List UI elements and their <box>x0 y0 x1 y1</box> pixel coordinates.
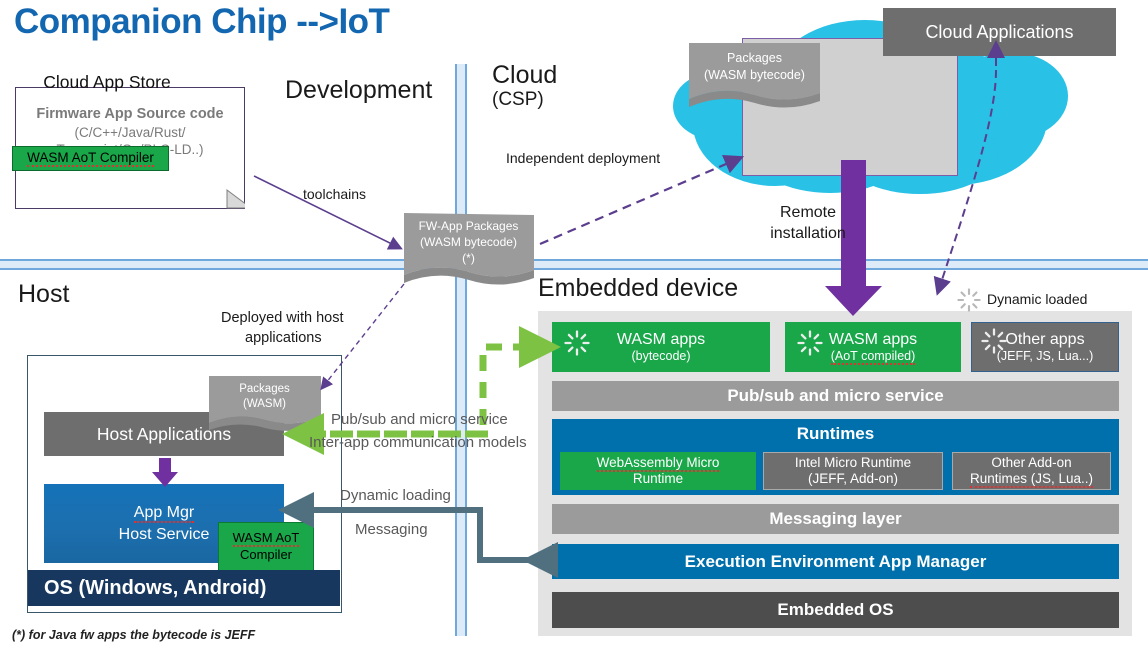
firmware-doc-title: Firmware App Source code <box>15 105 245 124</box>
diagram-canvas: Companion Chip -->IoT Development Cloud … <box>0 0 1148 653</box>
section-label-development: Development <box>285 76 432 105</box>
cloud-applications-label: Cloud Applications <box>925 22 1073 43</box>
legend-dynamic-loaded-label: Dynamic loaded <box>987 291 1087 307</box>
cloud-packages-callout-line2: (WASM bytecode) <box>687 68 822 83</box>
runtime-intel-micro[interactable]: Intel Micro Runtime (JEFF, Add-on) <box>763 452 943 490</box>
fw-packages-line1: FW-App Packages <box>403 219 534 234</box>
dynamic-loaded-icon <box>797 330 823 361</box>
cloud-app-store-title: Cloud App Store <box>0 72 214 93</box>
cloud-label-main: Cloud <box>492 61 557 89</box>
fw-packages-line3: (*) <box>403 251 534 266</box>
embedded-runtimes-band-label-wrap: Runtimes <box>552 421 1119 447</box>
embedded-os-label: Embedded OS <box>777 600 893 620</box>
embedded-app-2-name: Other apps <box>1005 330 1084 349</box>
embedded-app-0-name: WASM apps <box>617 330 705 349</box>
firmware-doc-line2: (C/C++/Java/Rust/ <box>15 124 245 142</box>
label-remote-installation-l1: Remote <box>773 204 843 222</box>
dynamic-loaded-icon <box>981 328 1007 359</box>
runtime-0-line2: Runtime <box>633 471 683 487</box>
runtime-2-line1: Other Add-on <box>991 455 1071 471</box>
host-wasm-aot-line2: Compiler <box>240 547 292 564</box>
cloud-applications-box[interactable]: Cloud Applications <box>883 8 1116 56</box>
embedded-runtimes-band-label: Runtimes <box>797 424 874 444</box>
label-messaging: Messaging <box>355 521 428 538</box>
embedded-messaging-band[interactable]: Messaging layer <box>552 504 1119 534</box>
host-service-label: Host Service <box>119 524 210 546</box>
vertical-divider <box>455 64 467 636</box>
section-label-embedded-device: Embedded device <box>538 274 738 303</box>
embedded-app-0-sub: (bytecode) <box>631 349 690 364</box>
embedded-app-manager-label: Execution Environment App Manager <box>685 552 987 572</box>
embedded-app-manager-band[interactable]: Execution Environment App Manager <box>552 544 1119 579</box>
section-label-cloud: Cloud (CSP) <box>492 61 557 110</box>
host-packages-line2: (WASM) <box>208 397 321 411</box>
cloud-packages-callout-line1: Packages <box>687 51 822 66</box>
runtime-other-addon[interactable]: Other Add-on Runtimes (JS, Lua..) <box>952 452 1111 490</box>
label-deployed-with-host-l2: applications <box>245 330 322 346</box>
runtime-webassembly-micro[interactable]: WebAssembly Micro Runtime <box>560 452 756 490</box>
embedded-pubsub-band-label: Pub/sub and micro service <box>727 386 943 406</box>
page-title: Companion Chip -->IoT <box>14 2 389 42</box>
runtime-1-line2: (JEFF, Add-on) <box>808 471 898 487</box>
embedded-app-1-name: WASM apps <box>829 330 917 349</box>
label-toolchains: toolchains <box>303 186 366 202</box>
host-packages-callout: Packages (WASM) <box>208 375 321 427</box>
host-wasm-aot-compiler[interactable]: WASM AoT Compiler <box>218 522 314 571</box>
embedded-os-band[interactable]: Embedded OS <box>552 592 1119 628</box>
embedded-app-1-sub: (AoT compiled) <box>831 349 916 364</box>
cloud-packages-callout: Packages (WASM bytecode) <box>687 41 822 103</box>
host-os-box[interactable]: OS (Windows, Android) <box>28 570 340 606</box>
label-dynamic-loading: Dynamic loading <box>340 487 451 504</box>
app-mgr-label: App Mgr <box>134 502 194 524</box>
label-independent-deployment: Independent deployment <box>506 150 660 166</box>
runtime-2-line2: Runtimes (JS, Lua..) <box>970 471 1093 487</box>
label-inter-app-models: Inter-app communication models <box>309 434 527 451</box>
runtime-0-line1: WebAssembly Micro <box>597 455 720 472</box>
host-packages-line1: Packages <box>208 382 321 396</box>
app-mgr-line1: App Mgr <box>134 504 194 523</box>
dynamic-loaded-icon <box>957 288 981 317</box>
cloud-wasm-aot-compiler[interactable]: WASM AoT Compiler <box>12 146 169 171</box>
embedded-pubsub-band[interactable]: Pub/sub and micro service <box>552 381 1119 411</box>
label-pubsub-micro-service: Pub/sub and micro service <box>331 411 508 428</box>
cloud-wasm-aot-compiler-label: WASM AoT Compiler <box>27 150 154 167</box>
section-label-host: Host <box>18 280 69 309</box>
dynamic-loaded-icon <box>564 330 590 361</box>
cloud-label-sub: (CSP) <box>492 90 557 110</box>
fw-app-packages-callout: FW-App Packages (WASM bytecode) (*) <box>403 212 534 280</box>
footnote: (*) for Java fw apps the bytecode is JEF… <box>12 628 255 642</box>
horizontal-divider <box>0 259 1148 270</box>
fw-packages-line2: (WASM bytecode) <box>403 235 534 250</box>
host-os-label: OS (Windows, Android) <box>44 577 266 600</box>
runtime-1-line1: Intel Micro Runtime <box>795 455 911 471</box>
embedded-messaging-band-label: Messaging layer <box>769 509 901 529</box>
label-remote-installation-l2: installation <box>755 225 861 243</box>
host-wasm-aot-line1: WASM AoT <box>233 530 300 547</box>
label-deployed-with-host-l1: Deployed with host <box>221 310 344 326</box>
embedded-app-2-sub: (JEFF, JS, Lua...) <box>997 349 1094 364</box>
